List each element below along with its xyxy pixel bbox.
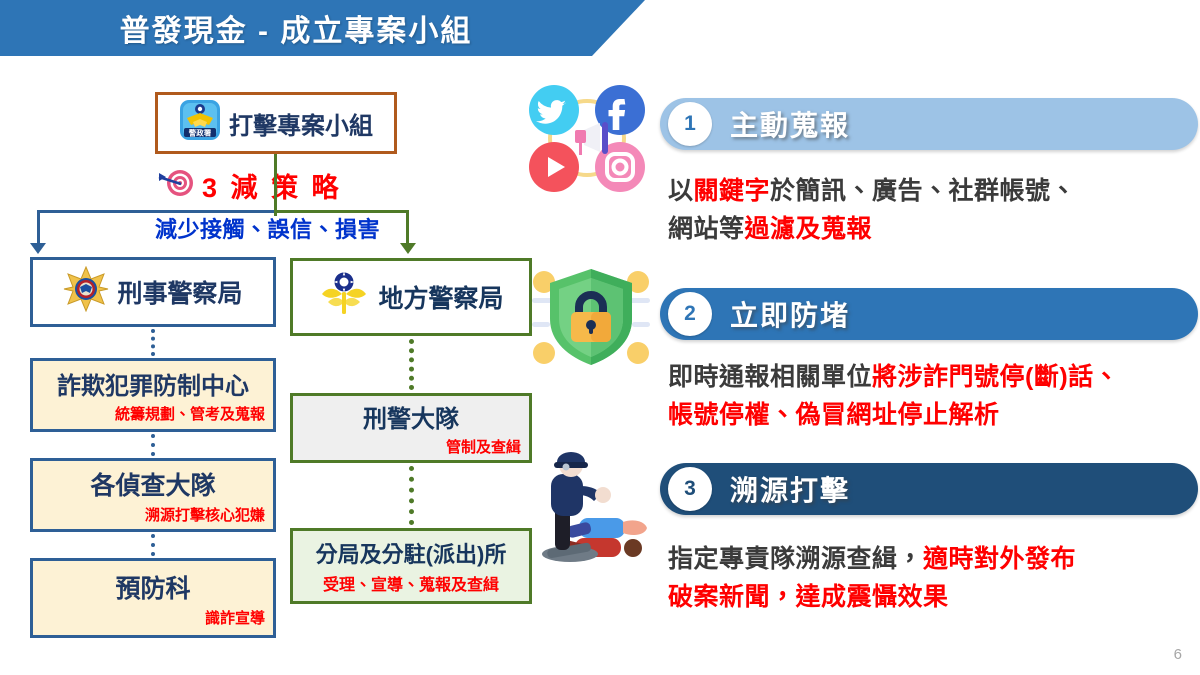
plain-text: 網站等 xyxy=(668,215,745,243)
section-pill-2: 2 立即防堵 xyxy=(660,288,1198,340)
section-body-2: 即時通報相關單位將涉詐門號停(斷)話、帳號停權、偽冒網址停止解析 xyxy=(668,358,1198,434)
squads-label: 各偵查大隊 xyxy=(90,466,215,502)
highlighted-text: 帳號停權、偽冒網址停止解析 xyxy=(668,401,1000,429)
fraud-center-note: 統籌規劃、管考及蒐報 xyxy=(33,403,273,424)
page-number: 6 xyxy=(1174,646,1182,663)
crime-brigade-box: 刑警大隊 管制及查緝 xyxy=(290,393,532,463)
plain-text: 於簡訊、廣告、社群帳號、 xyxy=(770,177,1076,205)
police-arrest-icon xyxy=(527,442,659,568)
connector-cib-to-center xyxy=(151,329,155,356)
cib-label: 刑事警察局 xyxy=(117,274,242,310)
plain-text: 指定專責隊溯源查緝， xyxy=(668,545,923,573)
section-number-2: 2 xyxy=(668,292,712,336)
precinct-box: 分局及分駐(派出)所 受理、宣導、蒐報及查緝 xyxy=(290,528,532,604)
fraud-center-label: 詐欺犯罪防制中心 xyxy=(57,366,249,401)
squads-note: 溯源打擊核心犯嫌 xyxy=(33,504,273,525)
section-title-2: 立即防堵 xyxy=(730,294,850,334)
taskforce-box: 警政署 打擊專案小組 xyxy=(155,92,397,154)
fraud-center-box: 詐欺犯罪防制中心 統籌規劃、管考及蒐報 xyxy=(30,358,276,432)
prevention-note: 識詐宣導 xyxy=(33,607,273,628)
section-title-1: 主動蒐報 xyxy=(730,104,850,144)
connector-taskforce-stem xyxy=(274,154,277,216)
section-pill-1: 1 主動蒐報 xyxy=(660,98,1198,150)
page-title: 普發現金 - 成立專案小組 xyxy=(0,0,592,56)
connector-right-drop xyxy=(406,210,409,244)
slide-canvas: 普發現金 - 成立專案小組 警政署 打擊專案小組 xyxy=(0,0,1200,675)
highlighted-text: 關鍵字 xyxy=(694,177,771,205)
prevention-box: 預防科 識詐宣導 xyxy=(30,558,276,638)
section-number-3: 3 xyxy=(668,467,712,511)
plain-text: 以 xyxy=(668,177,694,205)
taskforce-label: 打擊專案小組 xyxy=(229,106,373,141)
section-number-1: 1 xyxy=(668,102,712,146)
connector-squads-to-prevention xyxy=(151,534,155,556)
prevention-label: 預防科 xyxy=(115,569,190,605)
connector-left-drop xyxy=(37,210,40,244)
connector-brigade-to-precinct xyxy=(409,466,414,525)
strategy-subtitle: 減少接觸、誤信、損害 xyxy=(155,212,380,244)
crime-brigade-label: 刑警大隊 xyxy=(363,399,459,434)
local-bureau-box: 地方警察局 xyxy=(290,258,532,336)
svg-text:警政署: 警政署 xyxy=(188,127,212,137)
precinct-label: 分局及分駐(派出)所 xyxy=(316,537,507,569)
criminal-investigation-bureau-badge-icon xyxy=(63,266,109,319)
connector-bus-right xyxy=(274,210,409,213)
arrow-to-cib xyxy=(30,243,46,254)
shield-lock-icon xyxy=(528,262,654,372)
section-body-3: 指定專責隊溯源查緝，適時對外發布破案新聞，達成震懾效果 xyxy=(668,540,1198,616)
connector-bus-left xyxy=(37,210,277,213)
connector-center-to-squads xyxy=(151,434,155,456)
connector-local-to-brigade xyxy=(409,339,414,390)
local-bureau-label: 地方警察局 xyxy=(378,279,503,315)
arrow-to-local xyxy=(400,243,416,254)
crime-brigade-note: 管制及查緝 xyxy=(293,436,529,457)
highlighted-text: 將涉詐門號停(斷)話、 xyxy=(872,363,1119,391)
precinct-note: 受理、宣導、蒐報及查緝 xyxy=(293,571,529,595)
target-dart-icon xyxy=(158,166,196,205)
strategy-title: 3 減 策 略 xyxy=(202,166,342,205)
highlighted-text: 過濾及蒐報 xyxy=(745,215,873,243)
squads-box: 各偵查大隊 溯源打擊核心犯嫌 xyxy=(30,458,276,532)
section-body-1: 以關鍵字於簡訊、廣告、社群帳號、網站等過濾及蒐報 xyxy=(668,172,1198,248)
strategy-row: 3 減 策 略 xyxy=(158,166,408,204)
plain-text: 即時通報相關單位 xyxy=(668,363,872,391)
highlighted-text: 適時對外發布 xyxy=(923,545,1076,573)
cib-box: 刑事警察局 xyxy=(30,257,276,327)
highlighted-text: 破案新聞，達成震懾效果 xyxy=(668,583,949,611)
roc-police-emblem-icon xyxy=(318,268,370,327)
social-media-megaphone-icon xyxy=(528,82,646,194)
npa-police-agency-logo-icon: 警政署 xyxy=(179,98,221,149)
section-pill-3: 3 溯源打擊 xyxy=(660,463,1198,515)
section-title-3: 溯源打擊 xyxy=(730,469,850,509)
